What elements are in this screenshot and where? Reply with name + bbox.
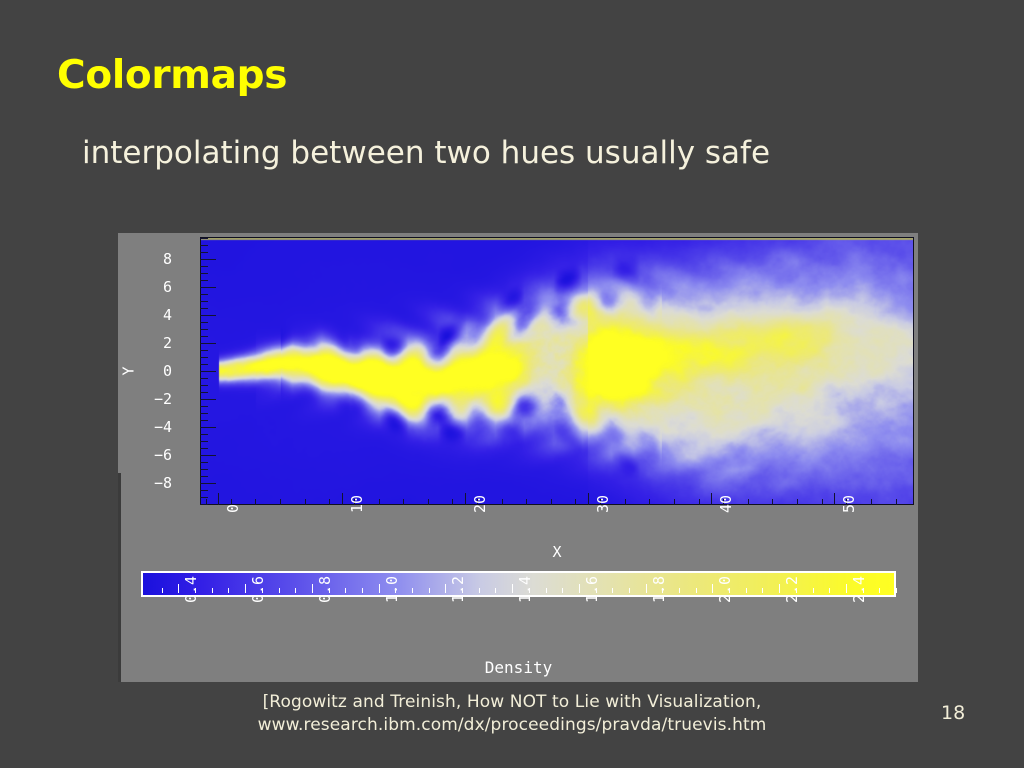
x-tick-label: 30 xyxy=(594,495,612,513)
citation-line-1: [Rogowitz and Treinish, How NOT to Lie w… xyxy=(0,691,1024,714)
x-axis-title: X xyxy=(200,543,914,561)
x-minor-tick-mark xyxy=(575,499,576,505)
colorbar-minor-tick-mark xyxy=(896,588,897,593)
x-tick-label: 10 xyxy=(348,495,366,513)
y-minor-tick-mark xyxy=(200,420,208,421)
y-minor-tick-mark xyxy=(200,266,208,267)
x-tick-label: 0 xyxy=(224,504,242,513)
colorbar-tick-label: 1.0 xyxy=(383,576,401,603)
colorbar-minor-tick-mark xyxy=(345,588,346,593)
colorbar-tick-label: 1.2 xyxy=(449,576,467,603)
y-tick-mark xyxy=(200,483,216,484)
colorbar-minor-tick-mark xyxy=(746,588,747,593)
x-minor-tick-mark xyxy=(329,499,330,505)
y-tick-label: −6 xyxy=(154,446,172,464)
x-tick-label: 50 xyxy=(840,495,858,513)
y-minor-tick-mark xyxy=(200,336,208,337)
x-tick-mark xyxy=(588,493,589,505)
slide-subtitle: interpolating between two hues usually s… xyxy=(82,138,770,169)
y-tick-mark xyxy=(200,455,216,456)
x-minor-tick-mark xyxy=(896,499,897,505)
x-tick-label: 20 xyxy=(471,495,489,513)
y-minor-tick-mark xyxy=(200,238,208,239)
y-minor-tick-mark xyxy=(200,462,208,463)
x-minor-tick-mark xyxy=(428,499,429,505)
colorbar-minor-tick-mark xyxy=(829,588,830,593)
x-minor-tick-mark xyxy=(699,499,700,505)
y-minor-tick-mark xyxy=(200,294,208,295)
y-minor-tick-mark xyxy=(200,301,208,302)
y-minor-tick-mark xyxy=(200,329,208,330)
colorbar-minor-tick-mark xyxy=(362,588,363,593)
page-number: 18 xyxy=(941,702,965,724)
y-minor-tick-mark xyxy=(200,252,208,253)
colorbar-minor-tick-mark xyxy=(813,588,814,593)
colorbar-tick-label: 2.4 xyxy=(850,576,868,603)
y-minor-tick-mark xyxy=(200,364,208,365)
y-minor-tick-mark xyxy=(200,448,208,449)
y-tick-label: 8 xyxy=(163,250,172,268)
colorbar-tick-mark xyxy=(379,584,380,593)
colorbar-minor-tick-mark xyxy=(429,588,430,593)
y-minor-tick-mark xyxy=(200,280,208,281)
y-tick-label: 4 xyxy=(163,306,172,324)
x-minor-tick-mark xyxy=(822,499,823,505)
colorbar-minor-tick-mark xyxy=(762,588,763,593)
x-minor-tick-mark xyxy=(871,499,872,505)
y-tick-mark xyxy=(200,399,216,400)
colorbar-tick-mark xyxy=(779,584,780,593)
colorbar-tick-mark xyxy=(312,584,313,593)
density-field-canvas xyxy=(201,238,913,504)
colorbar-minor-tick-mark xyxy=(846,588,847,593)
citation-line-2: www.research.ibm.com/dx/proceedings/prav… xyxy=(0,714,1024,737)
colorbar-minor-tick-mark xyxy=(212,588,213,593)
colorbar-tick-mark xyxy=(712,584,713,593)
y-minor-tick-mark xyxy=(200,490,208,491)
x-minor-tick-mark xyxy=(797,499,798,505)
colorbar-tick-mark xyxy=(178,584,179,593)
colorbar-minor-tick-mark xyxy=(546,588,547,593)
colorbar-tick-label: 2.2 xyxy=(783,576,801,603)
colorbar-tick-label: 1.4 xyxy=(516,576,534,603)
colorbar-tick-label: 0.4 xyxy=(182,576,200,603)
colorbar-tick-mark xyxy=(579,584,580,593)
x-minor-tick-mark xyxy=(403,499,404,505)
x-minor-tick-mark xyxy=(379,499,380,505)
x-minor-tick-mark xyxy=(305,499,306,505)
y-minor-tick-mark xyxy=(200,378,208,379)
x-minor-tick-mark xyxy=(280,499,281,505)
y-tick-mark xyxy=(200,343,216,344)
y-axis-title: Y xyxy=(120,366,138,375)
x-minor-tick-mark xyxy=(452,499,453,505)
y-minor-tick-mark xyxy=(200,497,208,498)
y-minor-tick-mark xyxy=(200,441,208,442)
y-tick-label: −8 xyxy=(154,474,172,492)
y-minor-tick-mark xyxy=(200,308,208,309)
slide: Colormaps interpolating between two hues… xyxy=(0,0,1024,768)
colorbar-minor-tick-mark xyxy=(612,588,613,593)
y-minor-tick-mark xyxy=(200,469,208,470)
y-tick-mark xyxy=(200,371,216,372)
colorbar-minor-tick-mark xyxy=(629,588,630,593)
y-minor-tick-mark xyxy=(200,322,208,323)
y-tick-label: 6 xyxy=(163,278,172,296)
y-minor-tick-mark xyxy=(200,385,208,386)
x-minor-tick-mark xyxy=(674,499,675,505)
colorbar-minor-tick-mark xyxy=(696,588,697,593)
y-tick-mark xyxy=(200,287,216,288)
colorbar-minor-tick-mark xyxy=(228,588,229,593)
y-minor-tick-mark xyxy=(200,434,208,435)
x-minor-tick-mark xyxy=(526,499,527,505)
x-tick-mark xyxy=(834,493,835,505)
y-tick-label: 2 xyxy=(163,334,172,352)
figure-panel: 86420−2−4−6−8 Y 01020304050 X 0.40.60.81… xyxy=(118,233,918,682)
y-tick-mark xyxy=(200,259,216,260)
x-tick-mark xyxy=(342,493,343,505)
x-minor-tick-mark xyxy=(206,499,207,505)
page-title: Colormaps xyxy=(57,56,287,95)
colorbar-minor-tick-mark xyxy=(479,588,480,593)
x-tick-mark xyxy=(218,493,219,505)
colorbar-minor-tick-mark xyxy=(412,588,413,593)
y-minor-tick-mark xyxy=(200,350,208,351)
colorbar-tick-labels: 0.40.60.81.01.21.41.61.82.02.22.4 xyxy=(141,601,896,645)
colorbar-minor-tick-mark xyxy=(279,588,280,593)
colorbar-minor-tick-mark xyxy=(295,588,296,593)
x-tick-label: 40 xyxy=(717,495,735,513)
x-minor-tick-mark xyxy=(772,499,773,505)
x-minor-tick-mark xyxy=(551,499,552,505)
colorbar-tick-mark xyxy=(512,584,513,593)
colorbar-tick-mark xyxy=(245,584,246,593)
colorbar-minor-tick-mark xyxy=(562,588,563,593)
y-tick-label: −4 xyxy=(154,418,172,436)
x-minor-tick-mark xyxy=(625,499,626,505)
y-tick-label: 0 xyxy=(163,362,172,380)
colorbar-title: Density xyxy=(141,658,896,677)
y-minor-tick-mark xyxy=(200,357,208,358)
citation: [Rogowitz and Treinish, How NOT to Lie w… xyxy=(0,691,1024,737)
x-minor-tick-mark xyxy=(502,499,503,505)
colorbar-tick-label: 0.8 xyxy=(316,576,334,603)
y-tick-label: −2 xyxy=(154,390,172,408)
colorbar-tick-label: 1.6 xyxy=(583,576,601,603)
x-tick-mark xyxy=(465,493,466,505)
colorbar-minor-tick-mark xyxy=(162,588,163,593)
colorbar-tick-label: 0.6 xyxy=(249,576,267,603)
colorbar-tick-mark xyxy=(445,584,446,593)
y-tick-mark xyxy=(200,427,216,428)
y-minor-tick-mark xyxy=(200,392,208,393)
colorbar-minor-tick-mark xyxy=(495,588,496,593)
y-minor-tick-mark xyxy=(200,476,208,477)
y-minor-tick-mark xyxy=(200,406,208,407)
x-minor-tick-mark xyxy=(649,499,650,505)
y-minor-tick-mark xyxy=(200,413,208,414)
colorbar-minor-tick-mark xyxy=(879,588,880,593)
y-minor-tick-mark xyxy=(200,273,208,274)
x-minor-tick-mark xyxy=(255,499,256,505)
y-minor-tick-mark xyxy=(200,245,208,246)
x-tick-mark xyxy=(711,493,712,505)
colorbar-tick-label: 2.0 xyxy=(716,576,734,603)
colorbar-tick-label: 1.8 xyxy=(650,576,668,603)
density-heatmap xyxy=(200,237,914,505)
y-tick-mark xyxy=(200,315,216,316)
x-minor-tick-mark xyxy=(748,499,749,505)
colorbar-minor-tick-mark xyxy=(679,588,680,593)
colorbar-tick-mark xyxy=(646,584,647,593)
